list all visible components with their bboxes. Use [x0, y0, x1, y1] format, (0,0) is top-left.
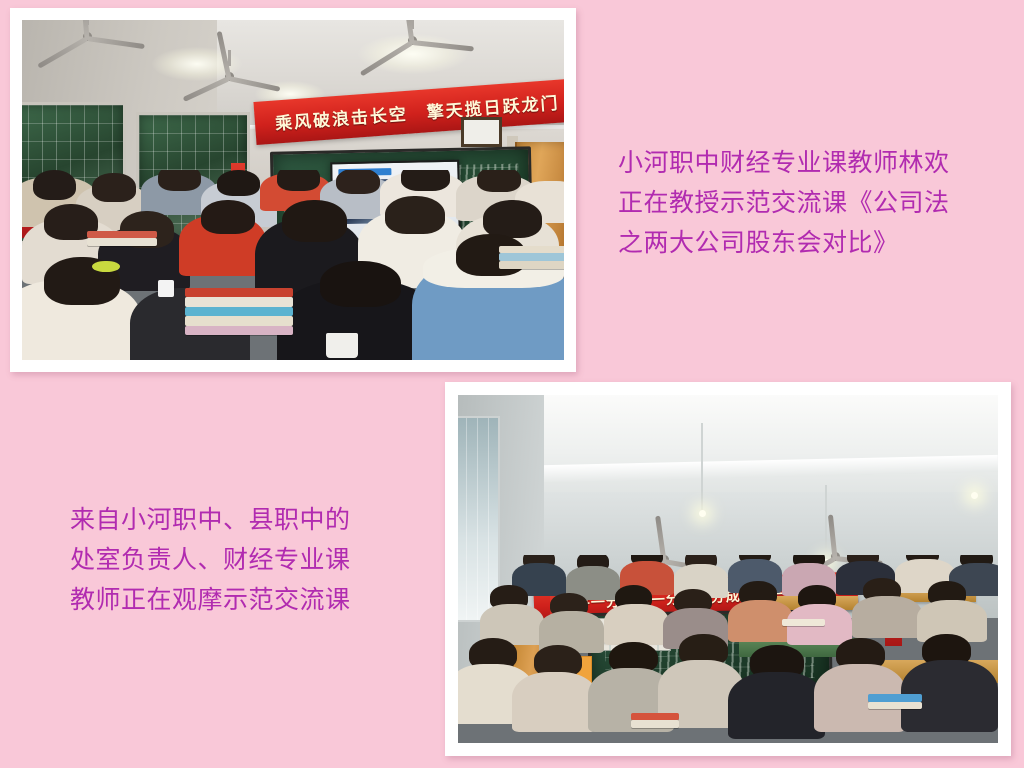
photo-classroom-lecture: 乘风破浪击长空 擎天揽日跃龙门: [22, 20, 564, 360]
caption-photo-2: 来自小河职中、县职中的 处室负责人、财经专业课 教师正在观摩示范交流课: [70, 500, 420, 620]
ceiling-fan-icon: [347, 27, 477, 53]
collage-canvas: 乘风破浪击长空 擎天揽日跃龙门: [0, 0, 1024, 768]
wall-clock-icon: [461, 117, 502, 147]
photo-frame-classroom-observers: 拼一分、多一分，一分成就你一生！: [445, 382, 1011, 756]
student-crowd: [22, 170, 564, 360]
photo-frame-classroom-lecture: 乘风破浪击长空 擎天揽日跃龙门: [10, 8, 576, 372]
caption-photo-1: 小河职中财经专业课教师林欢 正在教授示范交流课《公司法 之两大公司股东会对比》: [618, 143, 1008, 263]
observer-crowd: [458, 555, 998, 743]
ceiling-fan-icon: [27, 23, 147, 49]
photo-classroom-observers: 拼一分、多一分，一分成就你一生！: [458, 395, 998, 743]
ceiling-fan-icon: [174, 64, 284, 88]
